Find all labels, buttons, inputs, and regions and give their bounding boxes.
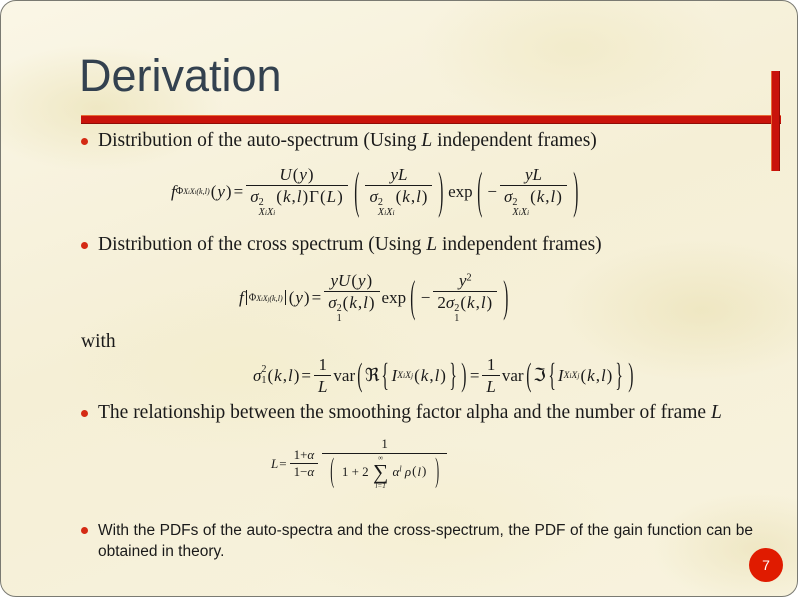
list-item-label: Distribution of the cross spectrum (Usin… xyxy=(98,233,602,257)
page-number-badge: 7 xyxy=(749,548,783,582)
list-item: Distribution of the auto-spectrum (Using… xyxy=(81,129,771,153)
bullet-dot-icon xyxy=(81,242,88,249)
list-item-label: The relationship between the smoothing f… xyxy=(98,401,722,425)
bullet-dot-icon xyxy=(81,138,88,145)
equation-cross-spectrum-pdf: f ΦXiXj(k,l) (y) = yU(y) σ21(k,l) exp ( … xyxy=(239,271,513,325)
with-label: with xyxy=(81,331,116,353)
list-item-label: With the PDFs of the auto-spectra and th… xyxy=(98,521,753,563)
bullet-dot-icon xyxy=(81,527,88,534)
list-item: The relationship between the smoothing f… xyxy=(81,401,781,425)
title-underline-rule xyxy=(81,115,781,124)
page-title: Derivation xyxy=(79,53,282,98)
bullet-dot-icon xyxy=(81,410,88,417)
list-item-label: Distribution of the auto-spectrum (Using… xyxy=(98,129,597,153)
equation-frames-alpha-relation: L= 1+α 1−α 1 ( 1 + 2 ∞ ∑ l=1 αl ρ(l) ) xyxy=(271,437,449,490)
list-item: With the PDFs of the auto-spectra and th… xyxy=(81,521,753,563)
list-item: Distribution of the cross spectrum (Usin… xyxy=(81,233,771,257)
equation-sigma-variance-definition: σ21 (k,l) = 1 L var ( ℜ { IXiXj (k,l) } … xyxy=(253,355,635,396)
equation-auto-spectrum-pdf: f ΦXiXi(k,l) (y) = U(y) σ2XiXi(k,l)Γ(L) … xyxy=(171,165,583,219)
title-vertical-rule xyxy=(771,71,780,171)
slide-canvas: Derivation Distribution of the auto-spec… xyxy=(0,0,798,597)
